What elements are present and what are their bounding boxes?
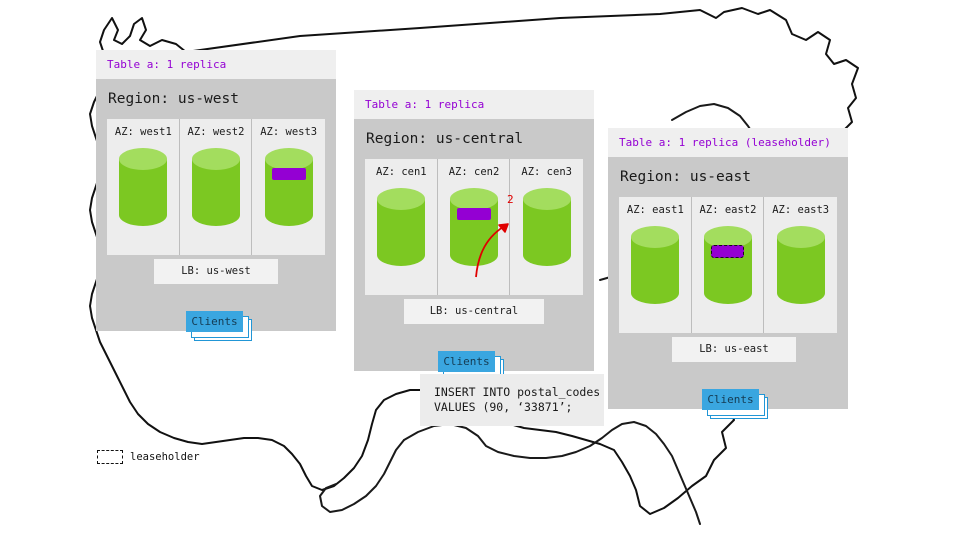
card-header-us-east: Table a: 1 replica (leaseholder) bbox=[608, 128, 848, 157]
az-label-cen3: AZ: cen3 bbox=[521, 167, 572, 178]
replica-block-cen2 bbox=[457, 208, 491, 220]
card-header-us-central: Table a: 1 replica bbox=[354, 90, 594, 119]
database-cylinder-icon bbox=[376, 186, 426, 268]
node-east3[interactable] bbox=[776, 224, 826, 310]
az-label-east3: AZ: east3 bbox=[772, 205, 829, 216]
replica-block-west3 bbox=[272, 168, 306, 180]
sql-statement-box: INSERT INTO postal_codes VALUES (90, ‘33… bbox=[420, 374, 604, 426]
node-west1[interactable] bbox=[118, 146, 168, 232]
database-cylinder-icon bbox=[703, 224, 753, 306]
replica-block-east2-leaseholder bbox=[711, 245, 744, 258]
clients-us-east[interactable]: Clients bbox=[702, 389, 770, 417]
clients-button-us-west[interactable]: Clients bbox=[186, 311, 243, 332]
az-label-east1: AZ: east1 bbox=[627, 205, 684, 216]
az-row-us-central: AZ: cen1 AZ: cen2 bbox=[365, 159, 583, 295]
az-label-cen1: AZ: cen1 bbox=[376, 167, 427, 178]
region-card-us-central: Table a: 1 replica Region: us-central AZ… bbox=[354, 90, 594, 371]
region-card-us-east: Table a: 1 replica (leaseholder) Region:… bbox=[608, 128, 848, 409]
database-cylinder-icon bbox=[522, 186, 572, 268]
az-cell-east3[interactable]: AZ: east3 bbox=[764, 197, 837, 333]
arrow-label-2: 2 bbox=[507, 194, 514, 205]
az-label-west2: AZ: west2 bbox=[188, 127, 245, 138]
az-label-cen2: AZ: cen2 bbox=[449, 167, 500, 178]
clients-button-us-east[interactable]: Clients bbox=[702, 389, 759, 410]
load-balancer-us-central[interactable]: LB: us-central bbox=[404, 299, 544, 324]
card-body-us-central: Region: us-central AZ: cen1 AZ: cen2 bbox=[354, 119, 594, 371]
load-balancer-us-east[interactable]: LB: us-east bbox=[672, 337, 796, 362]
az-cell-west3[interactable]: AZ: west3 bbox=[252, 119, 325, 255]
database-cylinder-icon bbox=[449, 186, 499, 268]
database-cylinder-icon bbox=[191, 146, 241, 228]
database-cylinder-icon bbox=[776, 224, 826, 306]
region-card-us-west: Table a: 1 replica Region: us-west AZ: w… bbox=[96, 50, 336, 331]
az-cell-east2[interactable]: AZ: east2 bbox=[692, 197, 765, 333]
node-cen1[interactable] bbox=[376, 186, 426, 272]
database-cylinder-icon bbox=[630, 224, 680, 306]
node-cen3[interactable] bbox=[522, 186, 572, 272]
az-label-west3: AZ: west3 bbox=[260, 127, 317, 138]
card-body-us-east: Region: us-east AZ: east1 AZ: east2 bbox=[608, 157, 848, 409]
az-row-us-west: AZ: west1 AZ: west2 AZ: bbox=[107, 119, 325, 255]
az-cell-cen1[interactable]: AZ: cen1 bbox=[365, 159, 438, 295]
card-body-us-west: Region: us-west AZ: west1 AZ: west2 bbox=[96, 79, 336, 331]
clients-button-us-central[interactable]: Clients bbox=[438, 351, 495, 372]
database-cylinder-icon bbox=[264, 146, 314, 228]
az-label-east2: AZ: east2 bbox=[700, 205, 757, 216]
az-cell-cen2[interactable]: AZ: cen2 bbox=[438, 159, 511, 295]
leaseholder-swatch-icon bbox=[97, 450, 123, 464]
clients-us-west[interactable]: Clients bbox=[186, 311, 254, 339]
node-west2[interactable] bbox=[191, 146, 241, 232]
node-east2[interactable] bbox=[703, 224, 753, 310]
az-cell-east1[interactable]: AZ: east1 bbox=[619, 197, 692, 333]
legend-label: leaseholder bbox=[130, 452, 200, 463]
region-title-us-west: Region: us-west bbox=[96, 79, 336, 119]
node-west3[interactable] bbox=[264, 146, 314, 232]
az-row-us-east: AZ: east1 AZ: east2 bbox=[619, 197, 837, 333]
az-cell-west1[interactable]: AZ: west1 bbox=[107, 119, 180, 255]
card-header-us-west: Table a: 1 replica bbox=[96, 50, 336, 79]
az-cell-west2[interactable]: AZ: west2 bbox=[180, 119, 253, 255]
database-cylinder-icon bbox=[118, 146, 168, 228]
az-label-west1: AZ: west1 bbox=[115, 127, 172, 138]
load-balancer-us-west[interactable]: LB: us-west bbox=[154, 259, 278, 284]
node-cen2[interactable] bbox=[449, 186, 499, 272]
region-title-us-east: Region: us-east bbox=[608, 157, 848, 197]
az-cell-cen3[interactable]: AZ: cen3 bbox=[510, 159, 583, 295]
region-title-us-central: Region: us-central bbox=[354, 119, 594, 159]
legend: leaseholder bbox=[97, 450, 200, 464]
node-east1[interactable] bbox=[630, 224, 680, 310]
